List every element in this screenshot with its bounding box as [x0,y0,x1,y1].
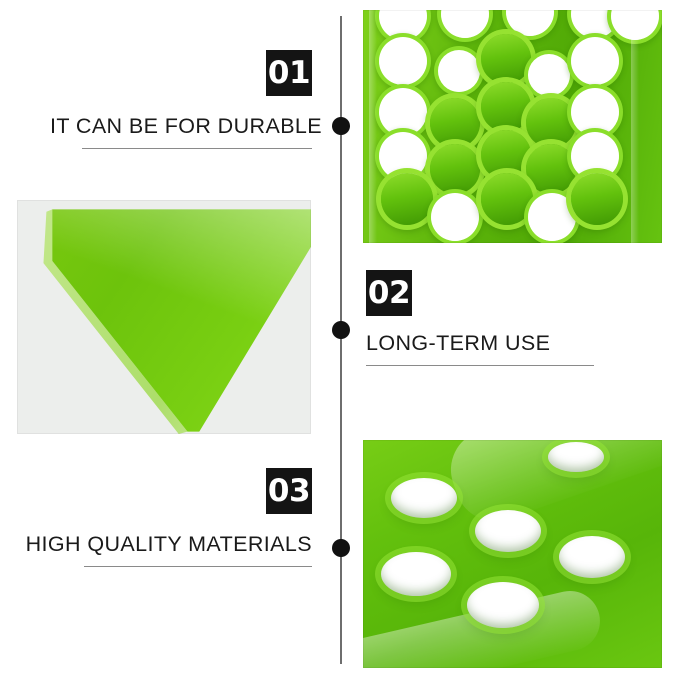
infographic-root: 01 IT CAN BE FOR DURABLE 02 LONG-TERM US… [0,0,679,679]
feature-number-badge-02: 02 [366,270,412,316]
feature-rule-03 [84,566,312,567]
product-photo-rack-macro [363,440,662,668]
rack-macro-surface [363,440,662,668]
feature-rule-01 [82,148,312,149]
rack-grid-surface [363,10,662,243]
timeline-line [340,16,342,664]
feature-title-02: LONG-TERM USE [366,331,628,356]
feature-block-02: 02 LONG-TERM USE [366,270,628,366]
timeline-dot-2 [332,321,350,339]
feature-title-03: HIGH QUALITY MATERIALS [22,532,312,557]
feature-number-badge-01: 01 [266,50,312,96]
product-photo-plastic-corner [17,200,311,434]
feature-title-01: IT CAN BE FOR DURABLE [50,114,312,139]
timeline-dot-3 [332,539,350,557]
feature-number-badge-03: 03 [266,468,312,514]
corner-sheen [17,200,311,434]
feature-block-01: 01 IT CAN BE FOR DURABLE [50,50,312,149]
product-photo-rack-top [363,10,662,243]
timeline-dot-1 [332,117,350,135]
feature-block-03: 03 HIGH QUALITY MATERIALS [22,468,312,567]
feature-rule-02 [366,365,594,366]
